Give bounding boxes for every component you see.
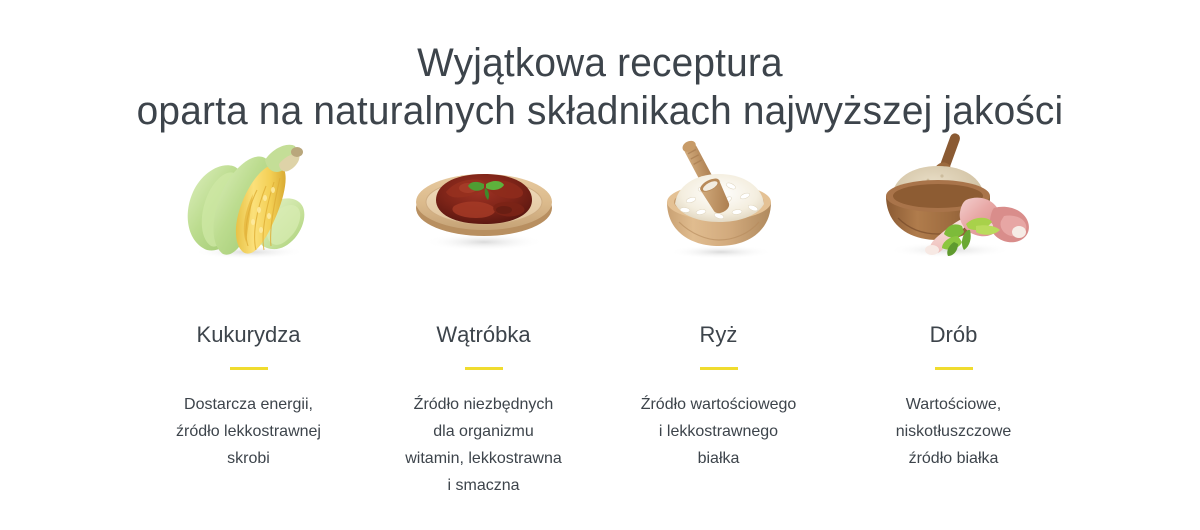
ingredient-title: Ryż (700, 322, 738, 348)
title-divider (935, 367, 973, 370)
desc-line: źródło białka (846, 445, 1061, 472)
desc-line: witamin, lekkostrawna (376, 445, 591, 472)
title-divider (700, 367, 738, 370)
desc-line: źródło lekkostrawnej (141, 418, 356, 445)
ingredient-card-rice: Ryż Źródło wartościowego i lekkostrawneg… (601, 130, 836, 472)
ingredient-title: Drób (930, 322, 978, 348)
desc-line: skrobi (141, 445, 356, 472)
heading-line-2: oparta na naturalnych składnikach najwyż… (18, 87, 1182, 135)
desc-line: Dostarcza energii, (141, 391, 356, 418)
heading-line-1: Wyjątkowa receptura (18, 39, 1182, 87)
desc-line: białka (611, 445, 826, 472)
desc-line: dla organizmu (376, 418, 591, 445)
desc-line: Wartościowe, (846, 391, 1061, 418)
desc-line: niskotłuszczowe (846, 418, 1061, 445)
ingredient-title: Wątróbka (436, 322, 530, 348)
title-divider (465, 367, 503, 370)
corn-cobs-photo (149, 130, 349, 270)
ingredient-card-corn: Kukurydza Dostarcza energii, źródło lekk… (131, 130, 366, 472)
ingredient-description: Dostarcza energii, źródło lekkostrawnej … (141, 391, 356, 472)
ingredient-description: Wartościowe, niskotłuszczowe źródło biał… (846, 391, 1061, 472)
liver-on-wooden-plate-photo (384, 130, 584, 270)
ingredient-card-liver: Wątróbka Źródło niezbędnych dla organizm… (366, 130, 601, 499)
desc-line: Źródło wartościowego (611, 391, 826, 418)
desc-line: i lekkostrawnego (611, 418, 826, 445)
section-heading: Wyjątkowa receptura oparta na naturalnyc… (18, 39, 1182, 135)
poultry-meal-bowl-and-raw-meat-photo (854, 130, 1054, 270)
desc-line: Źródło niezbędnych (376, 391, 591, 418)
ingredient-description: Źródło wartościowego i lekkostrawnego bi… (611, 391, 826, 472)
ingredient-title: Kukurydza (197, 322, 301, 348)
ingredient-description: Źródło niezbędnych dla organizmu witamin… (376, 391, 591, 499)
ingredient-columns: Kukurydza Dostarcza energii, źródło lekk… (0, 130, 1200, 499)
rice-bowl-with-scoop-photo (619, 130, 819, 270)
title-divider (230, 367, 268, 370)
ingredients-section: Wyjątkowa receptura oparta na naturalnyc… (0, 0, 1200, 530)
ingredient-card-poultry: Drób Wartościowe, niskotłuszczowe źródło… (836, 130, 1071, 472)
desc-line: i smaczna (376, 472, 591, 499)
